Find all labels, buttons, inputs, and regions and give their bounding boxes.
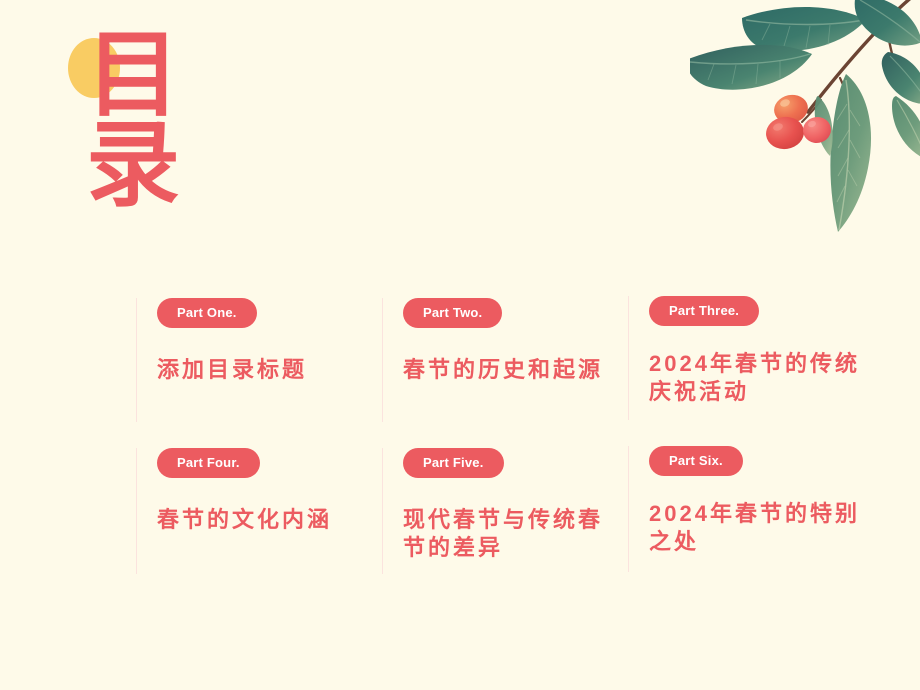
contents-item-3[interactable]: Part Three. 2024年春节的传统庆祝活动 — [628, 296, 874, 420]
contents-grid: Part One. 添加目录标题 Part Two. 春节的历史和起源 Part… — [136, 298, 896, 578]
part-title-2: 春节的历史和起源 — [403, 356, 619, 384]
part-badge-3: Part Three. — [649, 296, 759, 326]
part-badge-4: Part Four. — [157, 448, 260, 478]
part-title-3: 2024年春节的传统庆祝活动 — [649, 350, 865, 406]
page-title: 目 录 — [86, 30, 180, 210]
part-title-6: 2024年春节的特别之处 — [649, 500, 865, 556]
part-title-4: 春节的文化内涵 — [157, 506, 373, 534]
contents-item-1[interactable]: Part One. 添加目录标题 — [136, 298, 382, 422]
botanical-branch-icon — [690, 0, 920, 235]
part-badge-5: Part Five. — [403, 448, 504, 478]
part-title-5: 现代春节与传统春节的差异 — [403, 506, 619, 562]
contents-item-5[interactable]: Part Five. 现代春节与传统春节的差异 — [382, 448, 628, 574]
part-badge-2: Part Two. — [403, 298, 502, 328]
contents-item-4[interactable]: Part Four. 春节的文化内涵 — [136, 448, 382, 574]
part-badge-6: Part Six. — [649, 446, 743, 476]
part-title-1: 添加目录标题 — [157, 356, 373, 384]
part-badge-1: Part One. — [157, 298, 257, 328]
contents-item-6[interactable]: Part Six. 2024年春节的特别之处 — [628, 446, 874, 572]
page-title-block: 目 录 — [68, 30, 208, 230]
contents-item-2[interactable]: Part Two. 春节的历史和起源 — [382, 298, 628, 422]
slide-canvas: 目 录 — [0, 0, 920, 690]
